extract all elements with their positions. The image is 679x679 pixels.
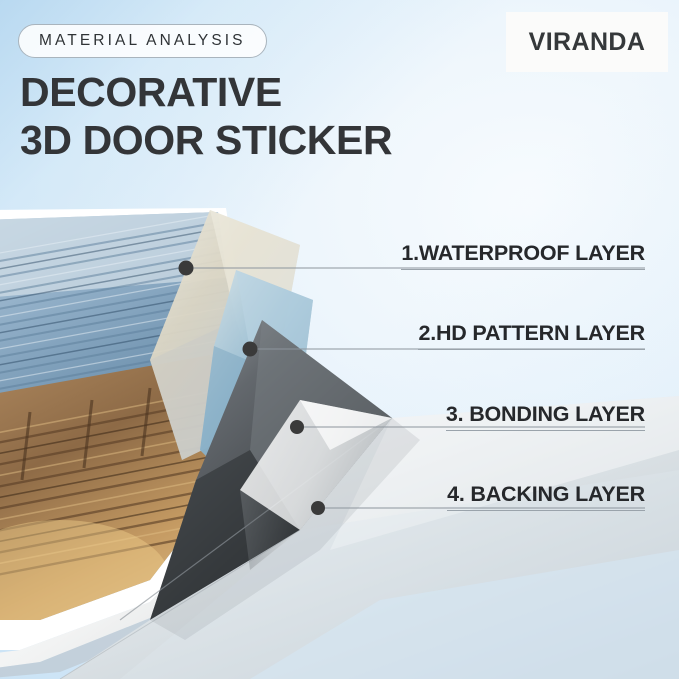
callout-text: 2.HD PATTERN LAYER xyxy=(418,320,645,346)
callout-underline xyxy=(446,430,645,431)
callout-underline xyxy=(418,349,645,350)
callout-text: 1.WATERPROOF LAYER xyxy=(401,240,645,266)
callout-label-hd-pattern: 2.HD PATTERN LAYER xyxy=(418,320,645,350)
page-title-line-2: 3D DOOR STICKER xyxy=(20,116,392,164)
brand-logo-text: VIRANDA xyxy=(529,28,646,57)
callout-underline xyxy=(447,510,645,511)
callout-underline xyxy=(401,269,645,270)
callout-dot-hd-pattern xyxy=(243,342,258,357)
callout-text: 4. BACKING LAYER xyxy=(447,481,645,507)
callout-dot-bonding xyxy=(290,420,304,434)
infographic-canvas: MATERIAL ANALYSIS DECORATIVE 3D DOOR STI… xyxy=(0,0,679,679)
callout-dot-backing xyxy=(311,501,325,515)
section-badge: MATERIAL ANALYSIS xyxy=(18,24,267,58)
callout-dot-waterproof xyxy=(179,261,194,276)
callout-label-waterproof: 1.WATERPROOF LAYER xyxy=(401,240,645,270)
callout-label-backing: 4. BACKING LAYER xyxy=(447,481,645,511)
page-title: DECORATIVE 3D DOOR STICKER xyxy=(20,68,392,164)
callout-label-bonding: 3. BONDING LAYER xyxy=(446,401,645,431)
brand-logo: VIRANDA xyxy=(506,12,668,72)
section-badge-label: MATERIAL ANALYSIS xyxy=(39,32,246,50)
callout-text: 3. BONDING LAYER xyxy=(446,401,645,427)
page-title-line-1: DECORATIVE xyxy=(20,69,282,115)
